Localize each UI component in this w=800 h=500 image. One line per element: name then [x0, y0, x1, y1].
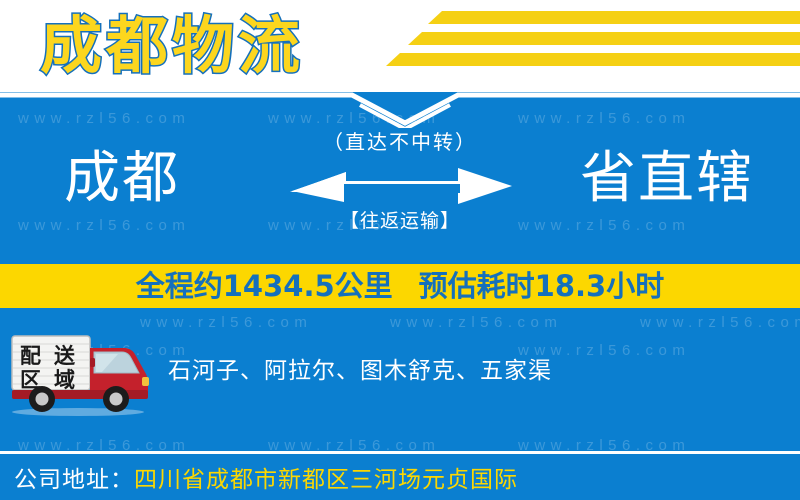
total-distance: 全程约1434.5公里: [136, 264, 393, 308]
stripe-3: [386, 53, 800, 66]
delivery-area-section: 配 送 区 域 石河子、阿拉尔、图木舒克、五家渠: [0, 330, 800, 418]
direct-shipping-note: （直达不中转）: [280, 128, 520, 156]
watermark: www.rzl56.com: [140, 314, 312, 331]
watermark: www.rzl56.com: [518, 110, 690, 127]
stripe-2: [408, 32, 800, 45]
watermark: www.rzl56.com: [390, 314, 562, 331]
distance-duration-bar: 全程约1434.5公里 预估耗时18.3小时: [0, 264, 800, 308]
watermark: www.rzl56.com: [640, 314, 800, 331]
banner-header: 成都物流: [0, 0, 800, 92]
route-middle: （直达不中转） 【往返运输】: [280, 128, 520, 234]
logistics-banner: 成都物流 www.rzl56.com www.rzl56.com www.rzl…: [0, 0, 800, 500]
roundtrip-note: 【往返运输】: [280, 208, 520, 234]
decorative-stripes: [380, 11, 800, 73]
estimated-duration: 预估耗时18.3小时: [419, 264, 665, 308]
badge-char-4: 域: [54, 368, 75, 392]
origin-city: 成都: [64, 144, 180, 214]
address-label: 公司地址：: [14, 460, 134, 494]
route-section: 成都 （直达不中转） 【往返运输】 省直辖: [0, 128, 800, 256]
double-arrow-icon: [280, 162, 520, 208]
company-address-bar: 公司地址： 四川省成都市新都区三河场元贞国际: [0, 451, 800, 500]
badge-char-2: 送: [54, 344, 76, 368]
badge-char-1: 配: [20, 344, 41, 368]
delivery-cities-list: 石河子、阿拉尔、图木舒克、五家渠: [168, 354, 552, 388]
address-value: 四川省成都市新都区三河场元贞国际: [134, 460, 518, 494]
stripe-1: [428, 11, 800, 24]
watermark: www.rzl56.com: [268, 110, 440, 127]
destination-city: 省直辖: [580, 144, 754, 214]
page-title: 成都物流: [40, 2, 304, 90]
watermark: www.rzl56.com: [18, 110, 190, 127]
delivery-truck-icon: 配 送 区 域: [6, 332, 156, 416]
